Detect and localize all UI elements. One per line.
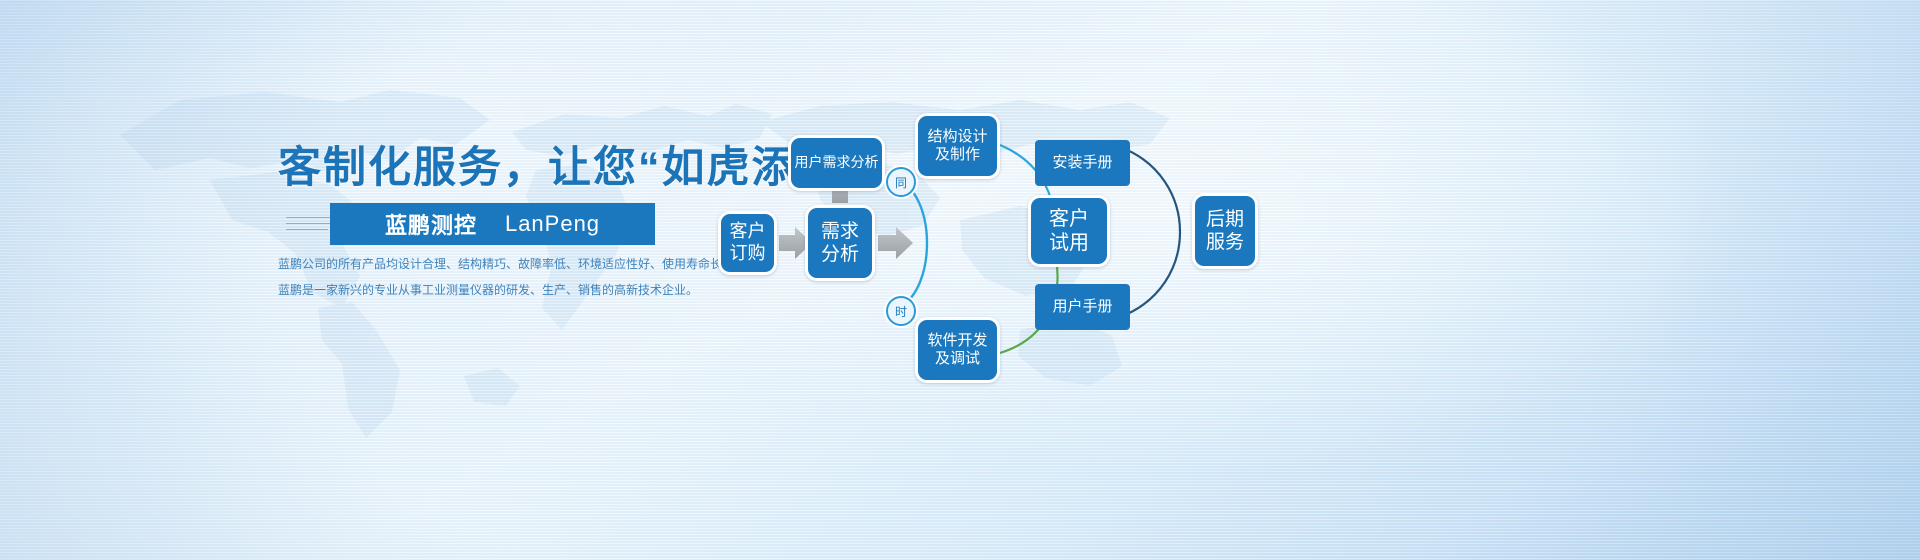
- flow-node-label: 客户试用: [1049, 207, 1089, 256]
- flow-node-customer-order[interactable]: 客户订购: [718, 211, 777, 275]
- flow-node-user-requirement-analysis[interactable]: 用户需求分析: [788, 135, 885, 191]
- flow-node-label: 用户手册: [1052, 298, 1112, 316]
- description-line-1: 蓝鹏公司的所有产品均设计合理、结构精巧、故障率低、环境适应性好、使用寿命长。: [278, 253, 678, 275]
- brand-name-en: LanPeng: [505, 211, 600, 237]
- flow-badge-tong: 同: [886, 167, 916, 197]
- flow-node-label: 用户需求分析: [795, 154, 879, 171]
- process-flow-diagram: 用户需求分析 客户订购 需求分析 结构设计及制作 软件开发及调试 安装手册: [700, 95, 1900, 425]
- flow-node-label: 后期服务: [1206, 208, 1244, 254]
- flow-node-user-manual[interactable]: 用户手册: [1035, 284, 1130, 330]
- flow-node-label: 需求分析: [821, 220, 859, 266]
- flow-node-label: 安装手册: [1052, 154, 1112, 172]
- flow-node-label: 结构设计及制作: [927, 128, 987, 165]
- description-line-2: 蓝鹏是一家新兴的专业从事工业测量仪器的研发、生产、销售的高新技术企业。: [278, 279, 678, 301]
- flow-node-label: 软件开发及调试: [927, 332, 987, 369]
- brand-bar: 蓝鹏测控 LanPeng: [330, 203, 655, 245]
- flow-badge-label: 时: [895, 303, 907, 320]
- flow-node-after-service[interactable]: 后期服务: [1192, 193, 1258, 269]
- flow-node-structural-design[interactable]: 结构设计及制作: [915, 113, 1000, 179]
- arrow-analysis-to-branch: [878, 227, 913, 259]
- flow-node-requirement-analysis[interactable]: 需求分析: [805, 205, 875, 281]
- flow-node-customer-trial[interactable]: 客户试用: [1028, 195, 1110, 267]
- company-description: 蓝鹏公司的所有产品均设计合理、结构精巧、故障率低、环境适应性好、使用寿命长。 蓝…: [278, 253, 678, 301]
- brand-name-cn: 蓝鹏测控: [385, 208, 477, 240]
- flow-node-label: 客户订购: [730, 221, 766, 265]
- flow-node-software-development[interactable]: 软件开发及调试: [915, 317, 1000, 383]
- flow-badge-shi: 时: [886, 296, 916, 326]
- flow-node-installation-manual[interactable]: 安装手册: [1035, 140, 1130, 186]
- banner-root: 客制化服务，让您“如虎添翼” 蓝鹏测控 LanPeng 蓝鹏公司的所有产品均设计…: [0, 0, 1920, 560]
- flow-badge-label: 同: [895, 174, 907, 191]
